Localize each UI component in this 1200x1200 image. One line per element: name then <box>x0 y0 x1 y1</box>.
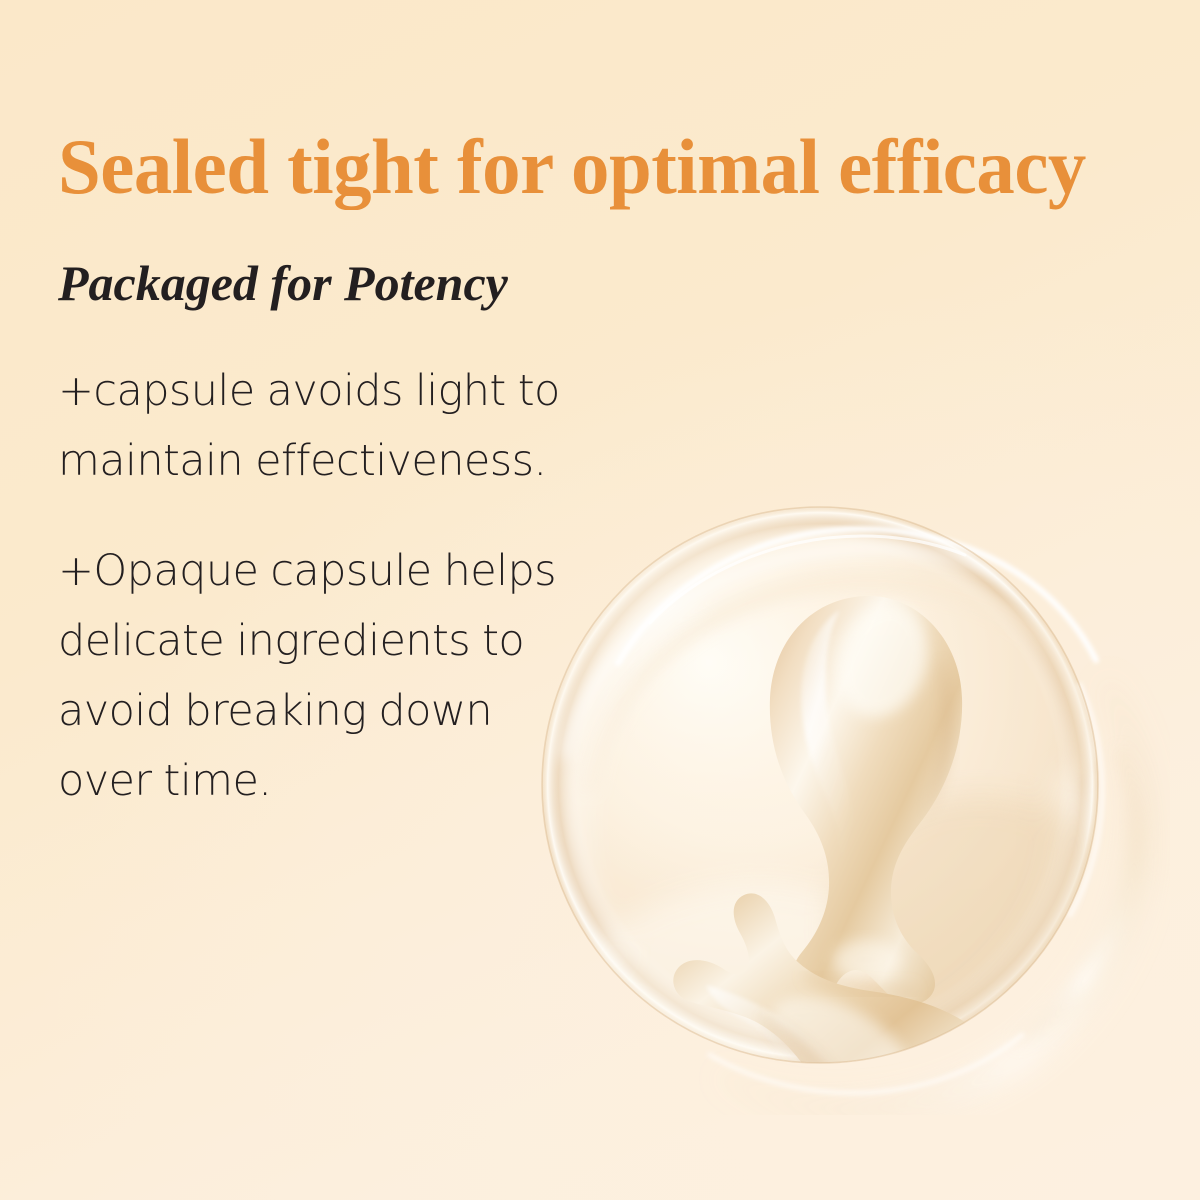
section-subheading: Packaged for Potency <box>58 206 1178 308</box>
content-column: Sealed tight for optimal efficacy Packag… <box>58 128 1178 816</box>
page-title: Sealed tight for optimal efficacy <box>58 128 1161 206</box>
benefit-item-2: +Opaque capsule helps delicate ingredien… <box>58 536 588 816</box>
benefit-item-1: +capsule avoids light to maintain effect… <box>58 356 588 496</box>
product-feature-banner: Sealed tight for optimal efficacy Packag… <box>0 0 1200 1200</box>
benefit-list: +capsule avoids light to maintain effect… <box>58 308 588 816</box>
